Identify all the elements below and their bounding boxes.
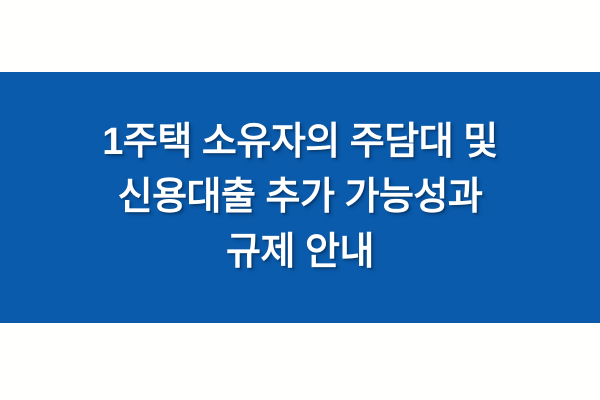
title-line-2: 신용대출 추가 가능성과: [20, 170, 580, 225]
title-card: 1주택 소유자의 주담대 및 신용대출 추가 가능성과 규제 안내: [0, 0, 600, 400]
title-line-3: 규제 안내: [20, 225, 580, 280]
top-margin-strip: [0, 0, 600, 72]
page-title: 1주택 소유자의 주담대 및 신용대출 추가 가능성과 규제 안내: [20, 115, 580, 280]
title-banner: 1주택 소유자의 주담대 및 신용대출 추가 가능성과 규제 안내: [0, 72, 600, 323]
title-line-1: 1주택 소유자의 주담대 및: [20, 115, 580, 170]
bottom-margin-strip: [0, 323, 600, 400]
